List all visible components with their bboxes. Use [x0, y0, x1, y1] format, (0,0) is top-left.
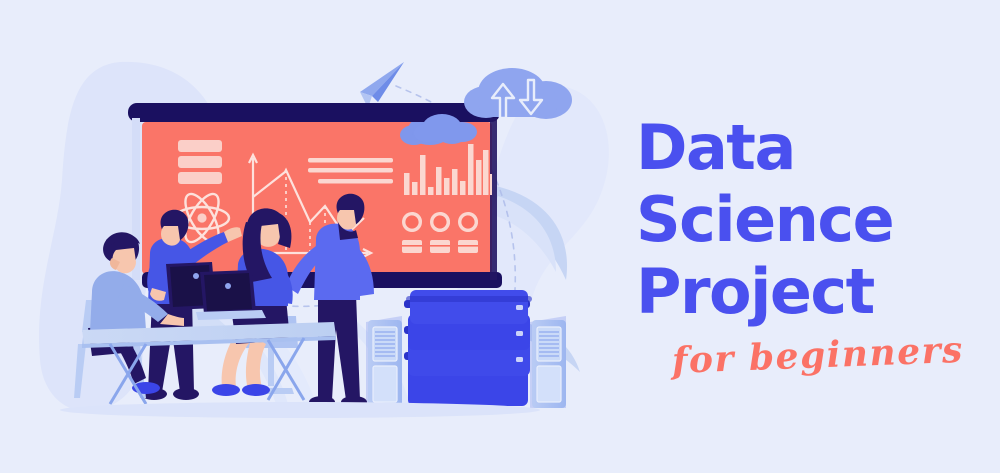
- server-tower-right: [530, 316, 566, 408]
- server-tower-left: [366, 316, 402, 408]
- atom-nucleus: [197, 213, 206, 222]
- text-lines: [308, 158, 393, 184]
- donut-row: [402, 212, 478, 232]
- data-science-illustration: [0, 0, 1000, 473]
- poster-canvas: Data Science Project for beginners: [0, 0, 1000, 473]
- legend-bars: [402, 240, 478, 253]
- floor-shadow: [60, 402, 540, 418]
- server-rack: [404, 290, 532, 406]
- stacked-list-bars: [178, 140, 222, 184]
